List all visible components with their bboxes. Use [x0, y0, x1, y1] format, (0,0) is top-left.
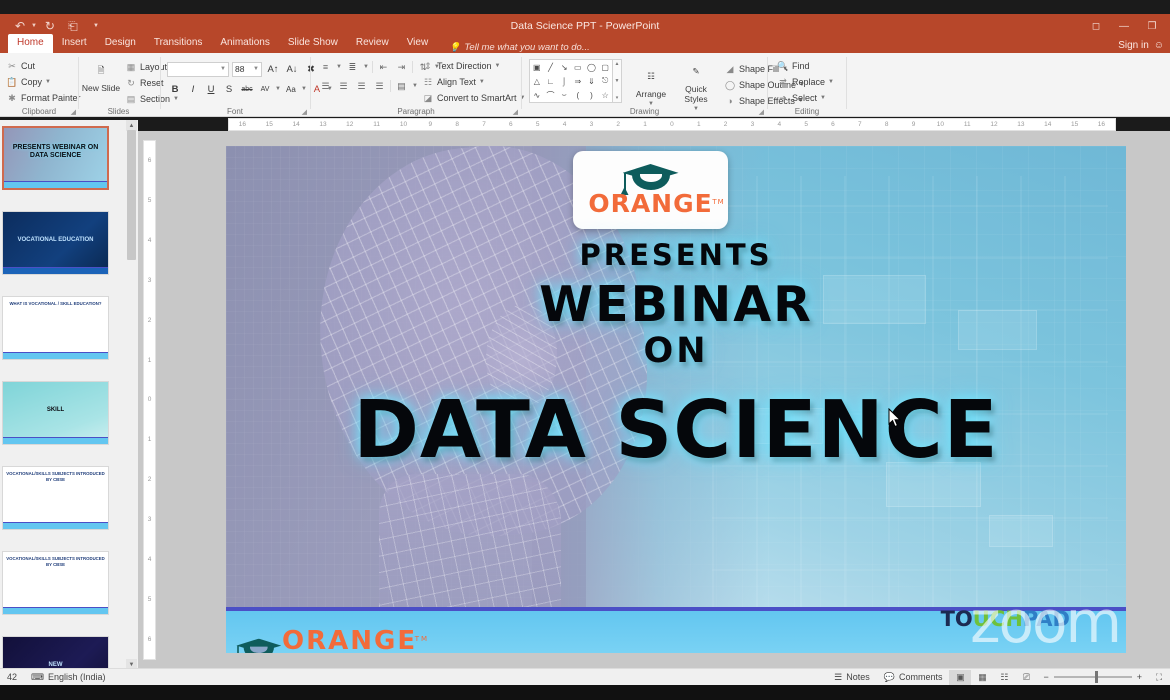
columns-dropdown-icon[interactable]: ▼: [412, 83, 418, 89]
drawing-group-label: Drawing: [523, 107, 766, 116]
thumbnail-footer-bar: [3, 607, 108, 614]
normal-view-button[interactable]: ▣: [949, 670, 971, 685]
gallery-expand-icon[interactable]: ▾: [616, 95, 619, 101]
shape-arc-icon[interactable]: ⎋: [602, 76, 608, 86]
ruler-tick: 15: [256, 121, 283, 128]
screen-bottom-strip: [0, 685, 1170, 700]
copy-label: Copy: [21, 77, 42, 87]
current-slide-canvas[interactable]: ORANGE TM PRESENTS WEBINAR ON DATA SCIEN…: [226, 146, 1126, 653]
increase-font-size-icon[interactable]: A↑: [265, 61, 281, 77]
thumbnail-preview: VOCATIONAL/SKILLS SUBJECTS INTRODUCED BY…: [3, 552, 108, 614]
ruler-tick: 7: [846, 121, 873, 128]
underline-button[interactable]: U: [203, 81, 219, 97]
group-separator: [521, 57, 522, 109]
tab-view[interactable]: View: [398, 34, 438, 53]
footer-orange-text: ORANGE: [282, 626, 417, 653]
shape-elbow-icon[interactable]: ∟: [547, 77, 555, 86]
drawing-dialog-launcher[interactable]: ◢: [759, 108, 764, 116]
decrease-font-size-icon[interactable]: A↓: [284, 61, 300, 77]
smartart-icon: ◪: [422, 92, 434, 104]
scissors-icon: ✂: [6, 60, 18, 72]
shapes-gallery[interactable]: ▣ ╱ ↘ ▭ ◯ ▢ △ ∟ ⌡ ⇒ ⇓ ⎋ ∿ ⌒ ⌣ ( ): [529, 59, 613, 103]
slide-thumbnail-4[interactable]: SKILL: [2, 381, 109, 445]
touchpad-part1: TO: [941, 607, 973, 631]
trademark-icon: TM: [415, 625, 429, 653]
italic-button[interactable]: I: [185, 81, 201, 97]
shape-rounded-rect-icon[interactable]: ▢: [601, 63, 609, 72]
shape-arc2-icon[interactable]: ⌣: [562, 90, 567, 100]
shape-triangle-icon[interactable]: △: [534, 77, 540, 86]
ruler-tick: 8: [873, 121, 900, 128]
ruler-tick: 14: [1034, 121, 1061, 128]
thumbnail-title-text: WHAT IS VOCATIONAL / SKILL EDUCATION?: [6, 301, 105, 307]
section-icon: ▤: [125, 93, 137, 105]
text-direction-dropdown-icon[interactable]: ▼: [495, 63, 501, 69]
ruler-tick: 9: [417, 121, 444, 128]
slide-thumbnail-2[interactable]: VOCATIONAL EDUCATION: [2, 211, 109, 275]
pointer-icon: ➔: [777, 92, 789, 104]
thumbnail-footer-bar: [3, 522, 108, 529]
char-spacing-label: AV: [261, 86, 270, 93]
replace-button[interactable]: ⇄ Replace ▼: [775, 74, 836, 90]
strikethrough-button[interactable]: abc: [239, 81, 255, 97]
font-dialog-launcher[interactable]: ◢: [302, 108, 307, 116]
copy-dropdown-icon[interactable]: ▼: [45, 79, 51, 85]
mouse-cursor-icon: [888, 408, 902, 428]
shape-rectangle-icon[interactable]: ▭: [574, 63, 582, 72]
ruler-tick: 9: [900, 121, 927, 128]
ruler-tick: 5: [793, 121, 820, 128]
numbering-dropdown-icon[interactable]: ▼: [363, 64, 369, 70]
ruler-tick: 14: [283, 121, 310, 128]
shape-right-brace-icon[interactable]: ): [590, 91, 593, 100]
align-left-button[interactable]: ☰: [318, 79, 333, 93]
slide-text-webinar[interactable]: WEBINAR: [226, 276, 1126, 333]
status-bar-right: ☰ Notes 💬 Comments ▣ ▦ ☷ ⎚ − + ⛶: [827, 670, 1170, 685]
shape-line-icon[interactable]: ╱: [548, 63, 553, 72]
slide-sorter-button[interactable]: ▦: [971, 670, 993, 685]
shape-freeform-icon[interactable]: ∿: [533, 91, 540, 100]
ruler-tick: 2: [712, 121, 739, 128]
shapes-gallery-scrollbar[interactable]: ▲ ▼ ▾: [613, 59, 622, 103]
ribbon-group-clipboard: ✂ Cut 📋 Copy ▼ ✱ Format Painter Clipboar…: [0, 53, 78, 117]
fit-to-window-button[interactable]: ⛶: [1148, 670, 1170, 685]
shape-effects-icon: ◑: [724, 95, 736, 107]
shape-left-brace-icon[interactable]: (: [576, 91, 579, 100]
change-case-button[interactable]: Aa: [283, 81, 299, 97]
clipboard-dialog-launcher[interactable]: ◢: [71, 108, 76, 116]
notes-icon: ☰: [834, 672, 842, 683]
orange-logo-card: ORANGE TM: [573, 151, 728, 229]
tab-design[interactable]: Design: [96, 34, 145, 53]
zoom-out-button[interactable]: −: [1043, 672, 1048, 682]
thumbnail-preview: SKILL: [3, 382, 108, 444]
ribbon: ✂ Cut 📋 Copy ▼ ✱ Format Painter Clipboar…: [0, 53, 1170, 117]
copy-icon: 📋: [6, 76, 18, 88]
ruler-tick: 3: [148, 500, 152, 540]
ruler-tick: 0: [659, 121, 686, 128]
thumbnail-footer-bar: [3, 352, 108, 359]
ruler-tick: 16: [229, 121, 256, 128]
ruler-tick: 4: [766, 121, 793, 128]
columns-button[interactable]: ▤: [394, 79, 409, 93]
thumbnail-title-text: VOCATIONAL/SKILLS SUBJECTS INTRODUCED BY…: [6, 556, 105, 567]
quick-styles-label: Quick Styles: [676, 84, 716, 104]
ruler-tick: 8: [444, 121, 471, 128]
slide-footer-bar: ORANGE TM TOUCHPAD zoom: [226, 607, 1126, 653]
paragraph-group-label: Paragraph: [312, 107, 520, 116]
ruler-tick: 12: [336, 121, 363, 128]
format-painter-button[interactable]: ✱ Format Painter: [4, 90, 83, 106]
zoom-slider[interactable]: − +: [1037, 672, 1148, 682]
slides-group-label: Slides: [79, 107, 158, 116]
font-name-input[interactable]: ▼: [167, 62, 229, 77]
slide-thumbnail-7[interactable]: NEW: [2, 636, 109, 670]
tab-animations[interactable]: Animations: [211, 34, 278, 53]
ruler-tick: 6: [148, 141, 152, 181]
paragraph-dialog-launcher[interactable]: ◢: [513, 108, 518, 116]
reset-icon: ↻: [125, 77, 137, 89]
numbering-button[interactable]: ≣: [345, 60, 360, 74]
select-button[interactable]: ➔ Select ▼: [775, 90, 836, 106]
italic-label: I: [192, 84, 195, 95]
ribbon-group-drawing: ▣ ╱ ↘ ▭ ◯ ▢ △ ∟ ⌡ ⇒ ⇓ ⎋ ∿ ⌒ ⌣ ( ): [523, 53, 766, 117]
zoom-thumb[interactable]: [1095, 671, 1098, 683]
slide-counter[interactable]: 42: [0, 672, 24, 682]
ruler-tick: 3: [148, 261, 152, 301]
arrange-icon: ☷: [639, 64, 663, 88]
cut-button[interactable]: ✂ Cut: [4, 58, 83, 74]
lightbulb-icon: 💡: [449, 42, 460, 53]
ribbon-group-editing: 🔍 Find ⇄ Replace ▼ ➔ Select ▼ Editing: [769, 53, 845, 117]
quick-styles-button[interactable]: ✎ Quick Styles ▼: [676, 59, 716, 114]
slide-text-presents[interactable]: PRESENTS: [226, 238, 1126, 272]
slide-text-data-science[interactable]: DATA SCIENCE: [226, 384, 1126, 476]
shape-textbox-icon[interactable]: ▣: [533, 63, 541, 72]
ruler-tick: 16: [1088, 121, 1115, 128]
search-icon: 🔍: [777, 60, 789, 72]
shape-star-icon[interactable]: ☆: [602, 91, 609, 100]
ruler-tick: 4: [551, 121, 578, 128]
format-painter-label: Format Painter: [21, 93, 81, 103]
convert-to-smartart-button[interactable]: ◪ Convert to SmartArt ▼: [420, 90, 527, 106]
tab-insert[interactable]: Insert: [53, 34, 96, 53]
align-text-button[interactable]: ☷ Align Text ▼: [420, 74, 527, 90]
slide-thumbnail-pane[interactable]: PRESENTS WEBINAR ON DATA SCIENCEVOCATION…: [0, 120, 126, 670]
ruler-tick: 5: [524, 121, 551, 128]
ruler-tick: 3: [739, 121, 766, 128]
notes-label: Notes: [846, 672, 870, 682]
slide-thumbnail-6[interactable]: VOCATIONAL/SKILLS SUBJECTS INTRODUCED BY…: [2, 551, 109, 615]
find-label: Find: [792, 61, 810, 71]
gallery-scroll-up-icon[interactable]: ▲: [615, 61, 620, 67]
bullets-button[interactable]: ≡: [318, 60, 333, 74]
ruler-tick: 6: [497, 121, 524, 128]
change-case-dropdown-icon[interactable]: ▼: [301, 86, 307, 92]
thumbnail-footer-bar: [4, 181, 107, 188]
ruler-tick: 11: [954, 121, 981, 128]
ruler-tick: 10: [927, 121, 954, 128]
status-bar: 42 ⌨ English (India) ☰ Notes 💬 Comments …: [0, 668, 1170, 685]
chip-shape: [989, 515, 1052, 546]
zoom-in-button[interactable]: +: [1137, 672, 1142, 682]
text-direction-icon: ⇕: [422, 60, 434, 72]
align-text-dropdown-icon[interactable]: ▼: [479, 79, 485, 85]
thumbnail-title-text: VOCATIONAL EDUCATION: [6, 236, 105, 244]
thumbnail-footer-bar: [3, 267, 108, 274]
footer-orange-logo: ORANGE TM: [234, 627, 417, 653]
ruler-tick: 1: [148, 420, 152, 460]
orange-logo-wordmark: ORANGE TM: [588, 191, 712, 217]
ruler-tick: 1: [632, 121, 659, 128]
font-group-label: Font: [161, 107, 309, 116]
text-direction-button[interactable]: ⇕ Text Direction ▼: [420, 58, 527, 74]
orange-logo-text: ORANGE: [588, 189, 712, 218]
ruler-tick: 1: [685, 121, 712, 128]
reading-view-button[interactable]: ☷: [993, 670, 1015, 685]
powerpoint-window: ↶ ▼ ↻ ⎗ ▼ Data Science PPT - PowerPoint …: [0, 0, 1170, 700]
underline-label: U: [208, 84, 215, 95]
find-button[interactable]: 🔍 Find: [775, 58, 836, 74]
shadow-label: S: [226, 84, 232, 95]
shape-arrow-right-icon[interactable]: ⇒: [574, 77, 581, 86]
graduation-cap-icon: [234, 638, 272, 653]
ruler-tick: 2: [148, 460, 152, 500]
ruler-tick: 15: [1061, 121, 1088, 128]
slide-thumbnail-5[interactable]: VOCATIONAL/SKILLS SUBJECTS INTRODUCED BY…: [2, 466, 109, 530]
thumbnail-preview: NEW: [3, 637, 108, 670]
font-size-dropdown-icon[interactable]: ▼: [253, 66, 259, 72]
bullets-dropdown-icon[interactable]: ▼: [336, 64, 342, 70]
strikethrough-label: abc: [241, 86, 252, 93]
ruler-tick: 6: [148, 619, 152, 659]
tab-transitions[interactable]: Transitions: [145, 34, 212, 53]
ruler-tick: 5: [148, 181, 152, 221]
thumbnail-preview: WHAT IS VOCATIONAL / SKILL EDUCATION?: [3, 297, 108, 359]
shape-fill-icon: ◢: [724, 63, 736, 75]
sign-in-button[interactable]: Sign in ☺: [1118, 40, 1164, 51]
arrange-label: Arrange: [636, 89, 666, 99]
group-separator: [846, 57, 847, 109]
replace-dropdown-icon[interactable]: ▼: [828, 79, 834, 85]
thumbnail-scroll-thumb[interactable]: [127, 130, 136, 260]
ruler-tick: 2: [605, 121, 632, 128]
ruler-tick: 7: [471, 121, 498, 128]
align-right-button[interactable]: ☰: [354, 79, 369, 93]
clipboard-group-label: Clipboard: [0, 107, 78, 116]
ruler-tick: 4: [148, 539, 152, 579]
thumbnail-preview: PRESENTS WEBINAR ON DATA SCIENCE: [4, 128, 107, 188]
horizontal-ruler[interactable]: 1615141312111098765432101234567891011121…: [228, 118, 1116, 131]
thumbnail-preview: VOCATIONAL EDUCATION: [3, 212, 108, 274]
keyboard-icon: ⌨: [31, 672, 44, 683]
gallery-scroll-down-icon[interactable]: ▼: [615, 78, 620, 84]
ruler-tick: 5: [148, 579, 152, 619]
slide-thumbnail-3[interactable]: WHAT IS VOCATIONAL / SKILL EDUCATION?: [2, 296, 109, 360]
ruler-tick: 12: [981, 121, 1008, 128]
ribbon-group-paragraph: ≡ ▼ ≣ ▼ ⇤ ⇥ ⇅ ▼ ☰ ☰ ☰ ☰ ▤ ▼: [312, 53, 520, 117]
group-separator: [310, 57, 311, 109]
screen-top-strip: [0, 0, 1170, 14]
sign-in-label: Sign in: [1118, 40, 1149, 51]
slide-thumbnail-1[interactable]: PRESENTS WEBINAR ON DATA SCIENCE: [2, 126, 109, 190]
replace-icon: ⇄: [777, 76, 789, 88]
ruler-tick: 13: [310, 121, 337, 128]
shadow-button[interactable]: S: [221, 81, 237, 97]
thumbnail-title-text: VOCATIONAL/SKILLS SUBJECTS INTRODUCED BY…: [6, 471, 105, 482]
comments-button[interactable]: 💬 Comments: [877, 672, 950, 683]
shape-connector-icon[interactable]: ⌡: [562, 77, 567, 86]
slideshow-button[interactable]: ⎚: [1015, 670, 1037, 685]
ribbon-group-font: ▼ 88 ▼ A↑ A↓ ✖ B I U S abc AV ▼ Aa ▼: [161, 53, 309, 117]
select-label: Select: [792, 93, 817, 103]
notes-button[interactable]: ☰ Notes: [827, 672, 877, 683]
tab-slide-show[interactable]: Slide Show: [279, 34, 347, 53]
trademark-icon: TM: [712, 189, 724, 215]
tab-home[interactable]: Home: [8, 34, 53, 53]
zoom-track[interactable]: [1054, 676, 1132, 678]
change-case-label: Aa: [286, 85, 296, 94]
ruler-tick: 2: [148, 300, 152, 340]
vertical-ruler[interactable]: 6543210123456: [143, 140, 156, 660]
shape-curve-icon[interactable]: ⌒: [546, 90, 554, 101]
ruler-tick: 1: [148, 340, 152, 380]
tell-me-search[interactable]: 💡 Tell me what you want to do...: [437, 42, 590, 53]
select-dropdown-icon[interactable]: ▼: [820, 95, 826, 101]
editing-group-label: Editing: [769, 107, 845, 116]
thumbnail-footer-bar: [3, 437, 108, 444]
language-label: English (India): [48, 672, 106, 682]
bold-label: B: [172, 84, 179, 95]
ruler-tick: 4: [148, 221, 152, 261]
justify-button[interactable]: ☰: [372, 79, 387, 93]
paintbrush-icon: ✱: [6, 92, 18, 104]
ribbon-tabs: Home Insert Design Transitions Animation…: [0, 34, 1170, 53]
decrease-indent-button[interactable]: ⇤: [376, 60, 391, 74]
character-spacing-dropdown-icon[interactable]: ▼: [275, 86, 281, 92]
character-spacing-button[interactable]: AV: [257, 81, 273, 97]
ribbon-group-slides: 🗎 New Slide ▦ Layout ▼ ↻ Reset ▤: [79, 53, 158, 117]
new-slide-button[interactable]: 🗎 New Slide: [81, 58, 121, 107]
font-size-input[interactable]: 88 ▼: [232, 62, 262, 77]
shape-arrow-icon[interactable]: ↘: [561, 63, 568, 72]
ruler-tick: 10: [390, 121, 417, 128]
ruler-tick: 0: [148, 380, 152, 420]
align-center-button[interactable]: ☰: [336, 79, 351, 93]
language-status[interactable]: ⌨ English (India): [24, 672, 113, 683]
arrange-button[interactable]: ☷ Arrange ▼: [631, 64, 671, 109]
text-direction-label: Text Direction: [437, 61, 492, 71]
group-separator: [767, 57, 768, 109]
font-size-value: 88: [235, 64, 244, 74]
footer-orange-wordmark: ORANGE TM: [282, 627, 417, 653]
comments-label: Comments: [899, 672, 943, 682]
ruler-tick: 13: [1007, 121, 1034, 128]
font-name-dropdown-icon[interactable]: ▼: [220, 66, 226, 72]
quick-styles-icon: ✎: [684, 59, 708, 83]
thumbnail-title-text: SKILL: [6, 406, 105, 414]
thumbnail-scrollbar[interactable]: ▲ ▼: [126, 120, 138, 670]
ruler-tick: 3: [578, 121, 605, 128]
ruler-tick: 11: [363, 121, 390, 128]
shape-arrow-down-icon[interactable]: ⇓: [588, 77, 595, 86]
zoom-watermark: zoom: [970, 593, 1120, 651]
shape-outline-icon: ◯: [724, 79, 736, 91]
shape-oval-icon[interactable]: ◯: [587, 63, 596, 72]
thumbnail-preview: VOCATIONAL/SKILLS SUBJECTS INTRODUCED BY…: [3, 467, 108, 529]
smartart-label: Convert to SmartArt: [437, 93, 517, 103]
account-icon: ☺: [1154, 40, 1164, 51]
comment-icon: 💬: [884, 672, 895, 683]
slide-text-on[interactable]: ON: [226, 331, 1126, 371]
replace-label: Replace: [792, 77, 825, 87]
increase-indent-button[interactable]: ⇥: [394, 60, 409, 74]
bold-button[interactable]: B: [167, 81, 183, 97]
new-slide-label: New Slide: [82, 83, 120, 93]
thumbnail-title-text: PRESENTS WEBINAR ON DATA SCIENCE: [7, 144, 104, 160]
tell-me-label: Tell me what you want to do...: [464, 42, 589, 53]
align-text-label: Align Text: [437, 77, 476, 87]
ruler-tick: 6: [820, 121, 847, 128]
new-slide-icon: 🗎: [89, 58, 113, 82]
align-text-icon: ☷: [422, 76, 434, 88]
tab-review[interactable]: Review: [347, 34, 398, 53]
copy-button[interactable]: 📋 Copy ▼: [4, 74, 83, 90]
layout-icon: ▦: [125, 61, 137, 73]
cut-label: Cut: [21, 61, 35, 71]
